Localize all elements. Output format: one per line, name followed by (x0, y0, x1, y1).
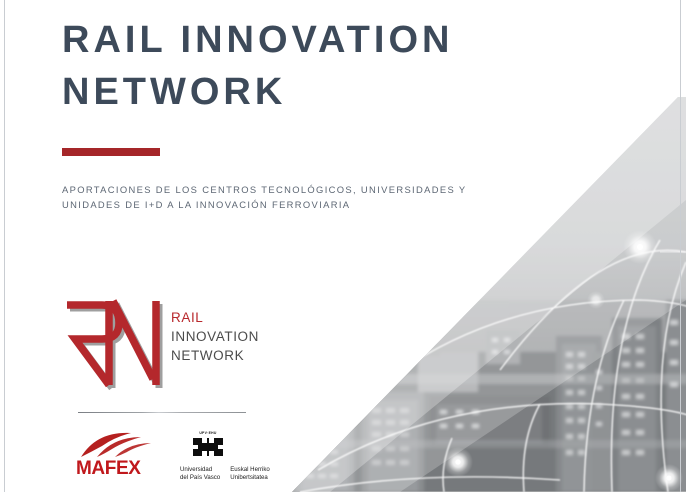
rn-word-rail: RAIL (171, 308, 259, 327)
svg-text:UPV·EHU: UPV·EHU (199, 431, 217, 435)
upv-name-eu-line2: Unibertsitatea (230, 474, 268, 481)
page-title-line-2: NETWORK (62, 71, 286, 113)
rn-word-network: NETWORK (171, 346, 259, 365)
upv-ehu-crest-icon: UPV·EHU (180, 428, 236, 466)
upv-name-es: Universidad del País Vasco (180, 466, 220, 481)
mafex-logo: MAFEX (75, 430, 167, 481)
mafex-wordmark: MAFEX (76, 458, 141, 476)
page-edge-right (680, 0, 681, 492)
rn-monogram-icon (60, 296, 168, 394)
upv-name-es-line1: Universidad (180, 466, 212, 473)
page-title: RAIL INNOVATIONNETWORK (62, 14, 532, 118)
upv-name-eu: Euskal Herriko Unibertsitatea (230, 466, 270, 481)
page-subtitle: APORTACIONES DE LOS CENTROS TECNOLÓGICOS… (62, 182, 522, 212)
upv-ehu-logo: UPV·EHU Universidad del País Vasco Euska… (180, 428, 236, 471)
logo-divider (78, 412, 246, 413)
rn-word-innovation: INNOVATION (171, 327, 259, 346)
upv-name-eu-line1: Euskal Herriko (230, 466, 270, 473)
page-subtitle-line-2: UNIDADES DE I+D A LA INNOVACIÓN FERROVIA… (62, 199, 350, 210)
upv-name-es-line2: del País Vasco (180, 474, 220, 481)
cover-page: RAIL INNOVATIONNETWORK APORTACIONES DE L… (0, 0, 686, 492)
page-subtitle-line-1: APORTACIONES DE LOS CENTROS TECNOLÓGICOS… (62, 184, 466, 195)
rn-wordmark: RAIL INNOVATION NETWORK (171, 308, 259, 365)
accent-rule (62, 148, 160, 156)
page-title-line-1: RAIL INNOVATION (62, 19, 453, 61)
cover-content: RAIL INNOVATIONNETWORK APORTACIONES DE L… (0, 0, 686, 492)
upv-ehu-names: Universidad del País Vasco Euskal Herrik… (180, 466, 290, 481)
mafex-swoosh-icon: MAFEX (75, 430, 167, 476)
